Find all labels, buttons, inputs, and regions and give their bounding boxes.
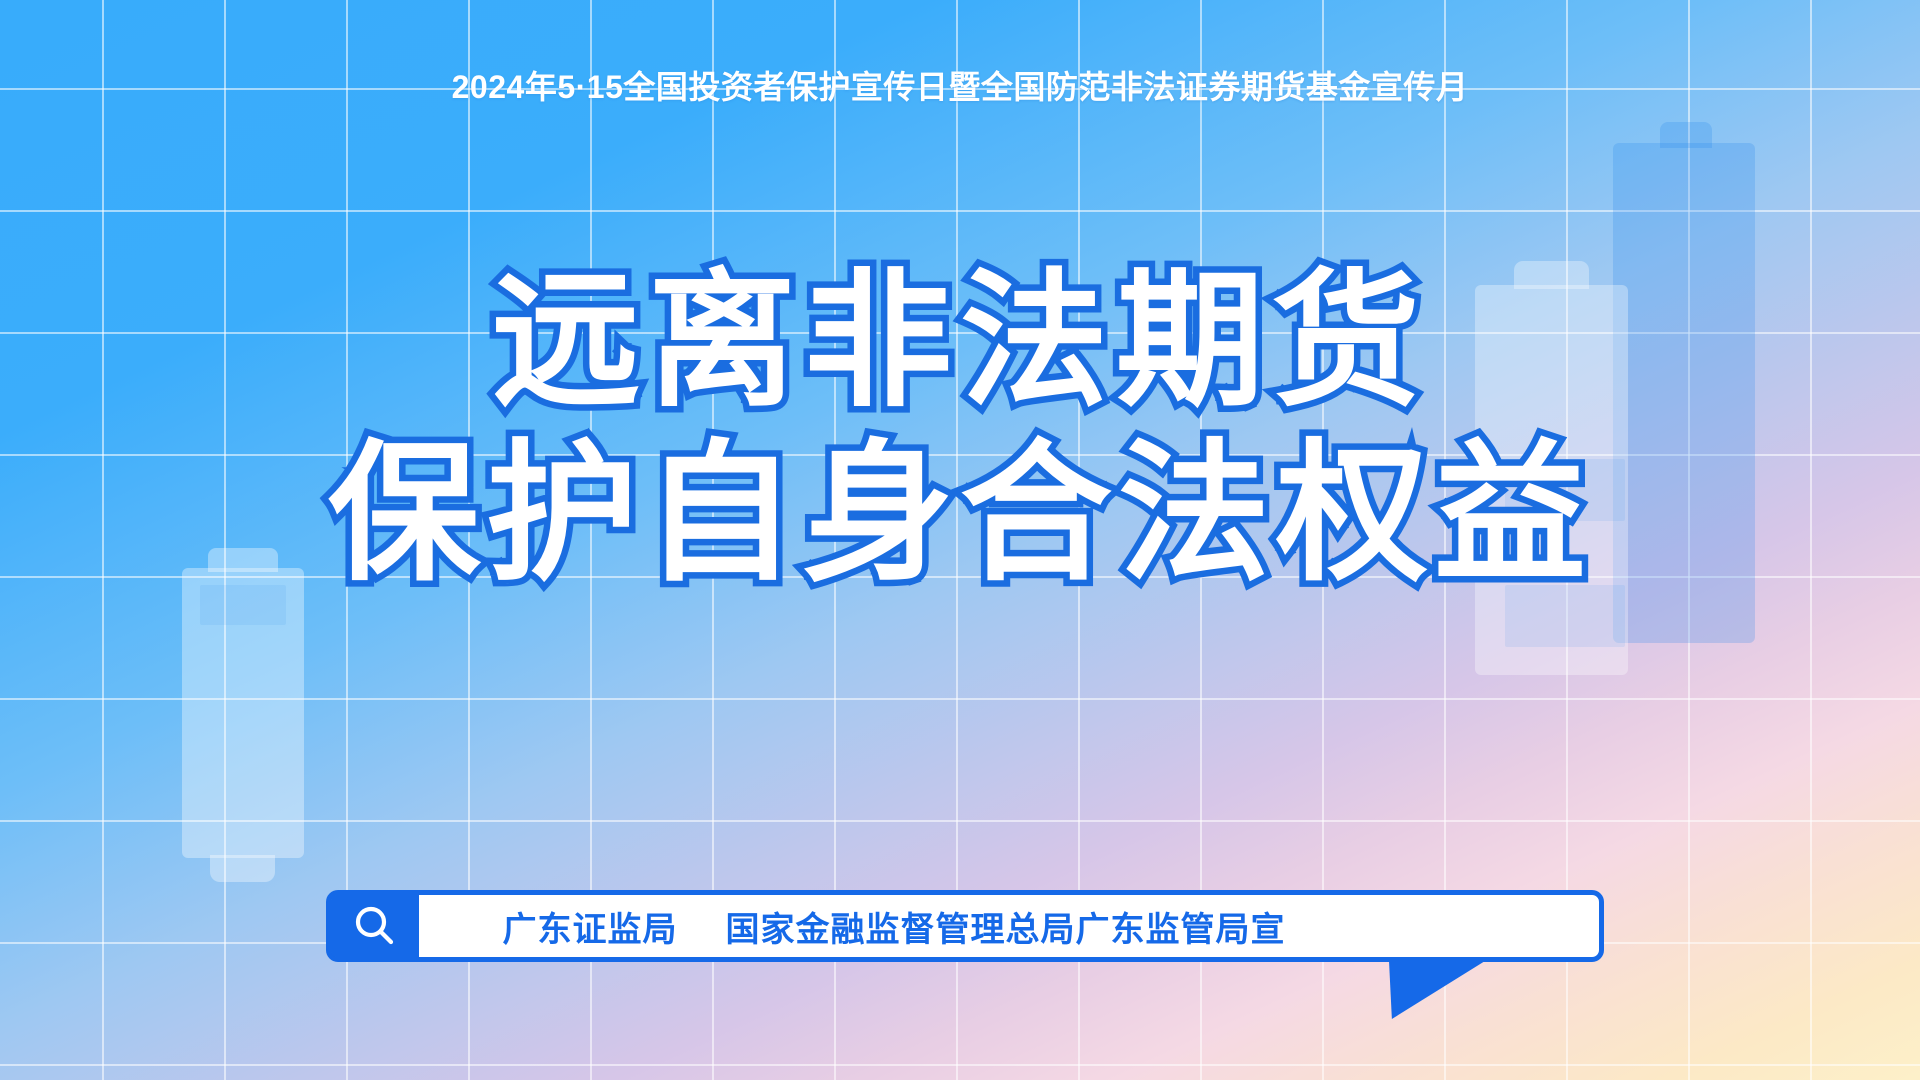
headline-block: 远离非法期货 保护自身合法权益 [0, 268, 1920, 590]
headline-line-2: 保护自身合法权益 [0, 438, 1920, 590]
campaign-kicker-title: 2024年5·15全国投资者保护宣传日暨全国防范非法证券期货基金宣传月 [0, 62, 1920, 108]
search-icon [352, 903, 398, 949]
speech-bubble-tail [1389, 961, 1485, 1019]
decor-bar-left-slot [200, 585, 286, 625]
issuing-organizations: 广东证监局 国家金融监督管理总局广东监管局宣 [419, 895, 1599, 957]
decor-bar-tall-cap [1660, 122, 1712, 148]
decor-bar-left-foot [210, 855, 275, 882]
headline-line-1: 远离非法期货 [0, 268, 1920, 416]
organization-name-2: 国家金融监督管理总局广东监管局宣 [726, 902, 1286, 951]
poster-canvas: 2024年5·15全国投资者保护宣传日暨全国防范非法证券期货基金宣传月 远离非法… [0, 0, 1920, 1080]
decor-bar-left [182, 568, 304, 858]
search-icon-badge [331, 895, 419, 957]
organization-name-1: 广东证监局 [503, 902, 678, 951]
footer-speech-bubble: 广东证监局 国家金融监督管理总局广东监管局宣 [326, 890, 1604, 962]
